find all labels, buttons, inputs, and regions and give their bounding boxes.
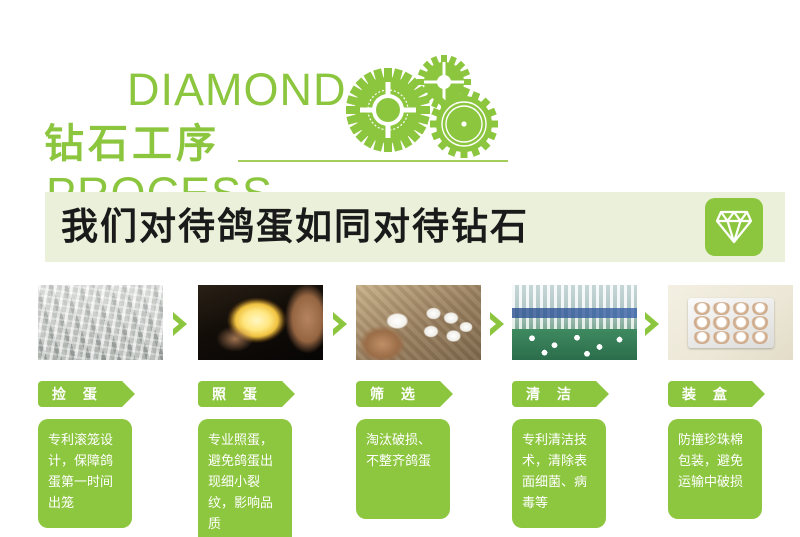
step-description-4: 专利清洁技术，清除表面细菌、病毒等 — [512, 419, 606, 528]
photo-image — [668, 285, 793, 360]
header-title-english: DIAMOND PROCESS — [46, 12, 347, 324]
slogan-text: 我们对待鸽蛋如同对待钻石 — [61, 206, 529, 248]
photo-egg-collecting-cages — [38, 285, 163, 360]
egg-tray — [688, 298, 774, 348]
header: DIAMOND PROCESS 钻石工序 — [0, 0, 800, 180]
process-step-2: 照 蛋 专业照蛋，避免鸽蛋出现细小裂纹，影响品质 — [198, 285, 323, 537]
step-tag-3: 筛 选 — [356, 381, 440, 407]
photo-image — [38, 285, 163, 360]
photo-image — [356, 285, 481, 360]
step-description-1: 专利滚笼设计，保障鸽蛋第一时间出笼 — [38, 419, 132, 528]
chevron-right-icon-4 — [642, 310, 664, 338]
photo-image — [198, 285, 323, 360]
photo-egg-candling — [198, 285, 323, 360]
step-description-3: 淘汰破损、不整齐鸽蛋 — [356, 419, 450, 519]
infographic-page: DIAMOND PROCESS 钻石工序 — [0, 0, 800, 537]
process-steps: 捡 蛋 专利滚笼设计，保障鸽蛋第一时间出笼 照 蛋 专业照蛋，避免鸽蛋出现细小裂… — [0, 285, 800, 537]
photo-egg-sorting-by-hand — [356, 285, 481, 360]
chevron-right-icon-1 — [170, 310, 192, 338]
photo-boxed-eggs-tray — [668, 285, 793, 360]
step-tag-1: 捡 蛋 — [38, 381, 122, 407]
chevron-right-icon-3 — [487, 310, 509, 338]
process-step-1: 捡 蛋 专利滚笼设计，保障鸽蛋第一时间出笼 — [38, 285, 163, 528]
process-step-5: 装 盒 防撞珍珠棉包装，避免运输中破损 — [668, 285, 793, 519]
photo-egg-washing-machine — [512, 285, 637, 360]
process-step-4: 清 洁 专利清洁技术，清除表面细菌、病毒等 — [512, 285, 637, 528]
step-tag-5: 装 盒 — [668, 381, 752, 407]
step-description-2: 专业照蛋，避免鸽蛋出现细小裂纹，影响品质 — [198, 419, 292, 537]
photo-image — [512, 285, 637, 360]
step-tag-4: 清 洁 — [512, 381, 596, 407]
step-tag-2: 照 蛋 — [198, 381, 282, 407]
step-description-5: 防撞珍珠棉包装，避免运输中破损 — [668, 419, 762, 519]
diamond-icon — [705, 198, 763, 256]
slogan-banner: 我们对待鸽蛋如同对待钻石 — [45, 192, 785, 262]
header-title-english-line1: DIAMOND — [127, 64, 347, 115]
process-step-3: 筛 选 淘汰破损、不整齐鸽蛋 — [356, 285, 481, 519]
header-title-chinese: 钻石工序 — [44, 122, 220, 166]
chevron-right-icon-2 — [330, 310, 352, 338]
gears-icon — [340, 48, 520, 168]
